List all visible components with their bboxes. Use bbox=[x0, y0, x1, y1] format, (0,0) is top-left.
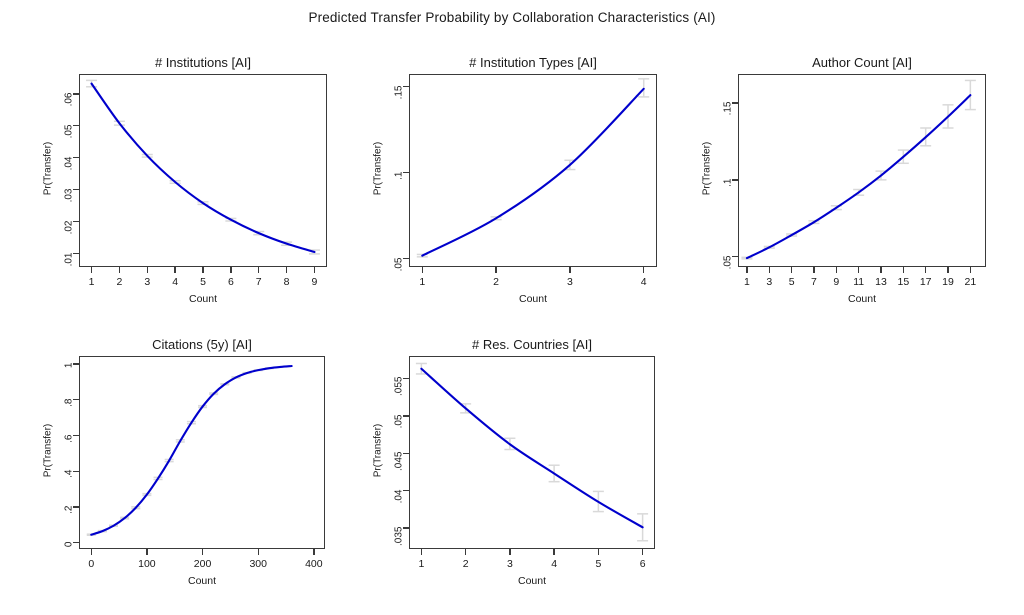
x-axis-tick-label: 4 bbox=[529, 558, 579, 570]
x-axis-tick bbox=[553, 549, 554, 555]
x-axis-tick bbox=[509, 549, 510, 555]
y-axis-tick-label: .05 bbox=[394, 414, 405, 454]
x-axis-tick-label: 3 bbox=[485, 558, 535, 570]
panel-res-countries: # Res. Countries [AI]123456.035.04.045.0… bbox=[0, 0, 1024, 615]
x-axis-tick bbox=[421, 549, 422, 555]
plot-series bbox=[0, 0, 1024, 615]
x-axis-tick bbox=[465, 549, 466, 555]
figure-canvas: Predicted Transfer Probability by Collab… bbox=[0, 0, 1024, 615]
x-axis-label: Count bbox=[409, 575, 655, 587]
x-axis-tick-label: 5 bbox=[573, 558, 623, 570]
y-axis-tick-label: .04 bbox=[394, 489, 405, 529]
y-axis-label: Pr(Transfer) bbox=[373, 405, 384, 495]
x-axis-tick-label: 6 bbox=[618, 558, 668, 570]
y-axis-tick-label: .045 bbox=[394, 452, 405, 492]
y-axis-tick-label: .055 bbox=[394, 377, 405, 417]
prediction-line bbox=[421, 369, 642, 528]
y-axis-tick-label: .035 bbox=[394, 527, 405, 567]
x-axis-tick bbox=[598, 549, 599, 555]
x-axis-tick bbox=[642, 549, 643, 555]
x-axis-tick-label: 2 bbox=[441, 558, 491, 570]
